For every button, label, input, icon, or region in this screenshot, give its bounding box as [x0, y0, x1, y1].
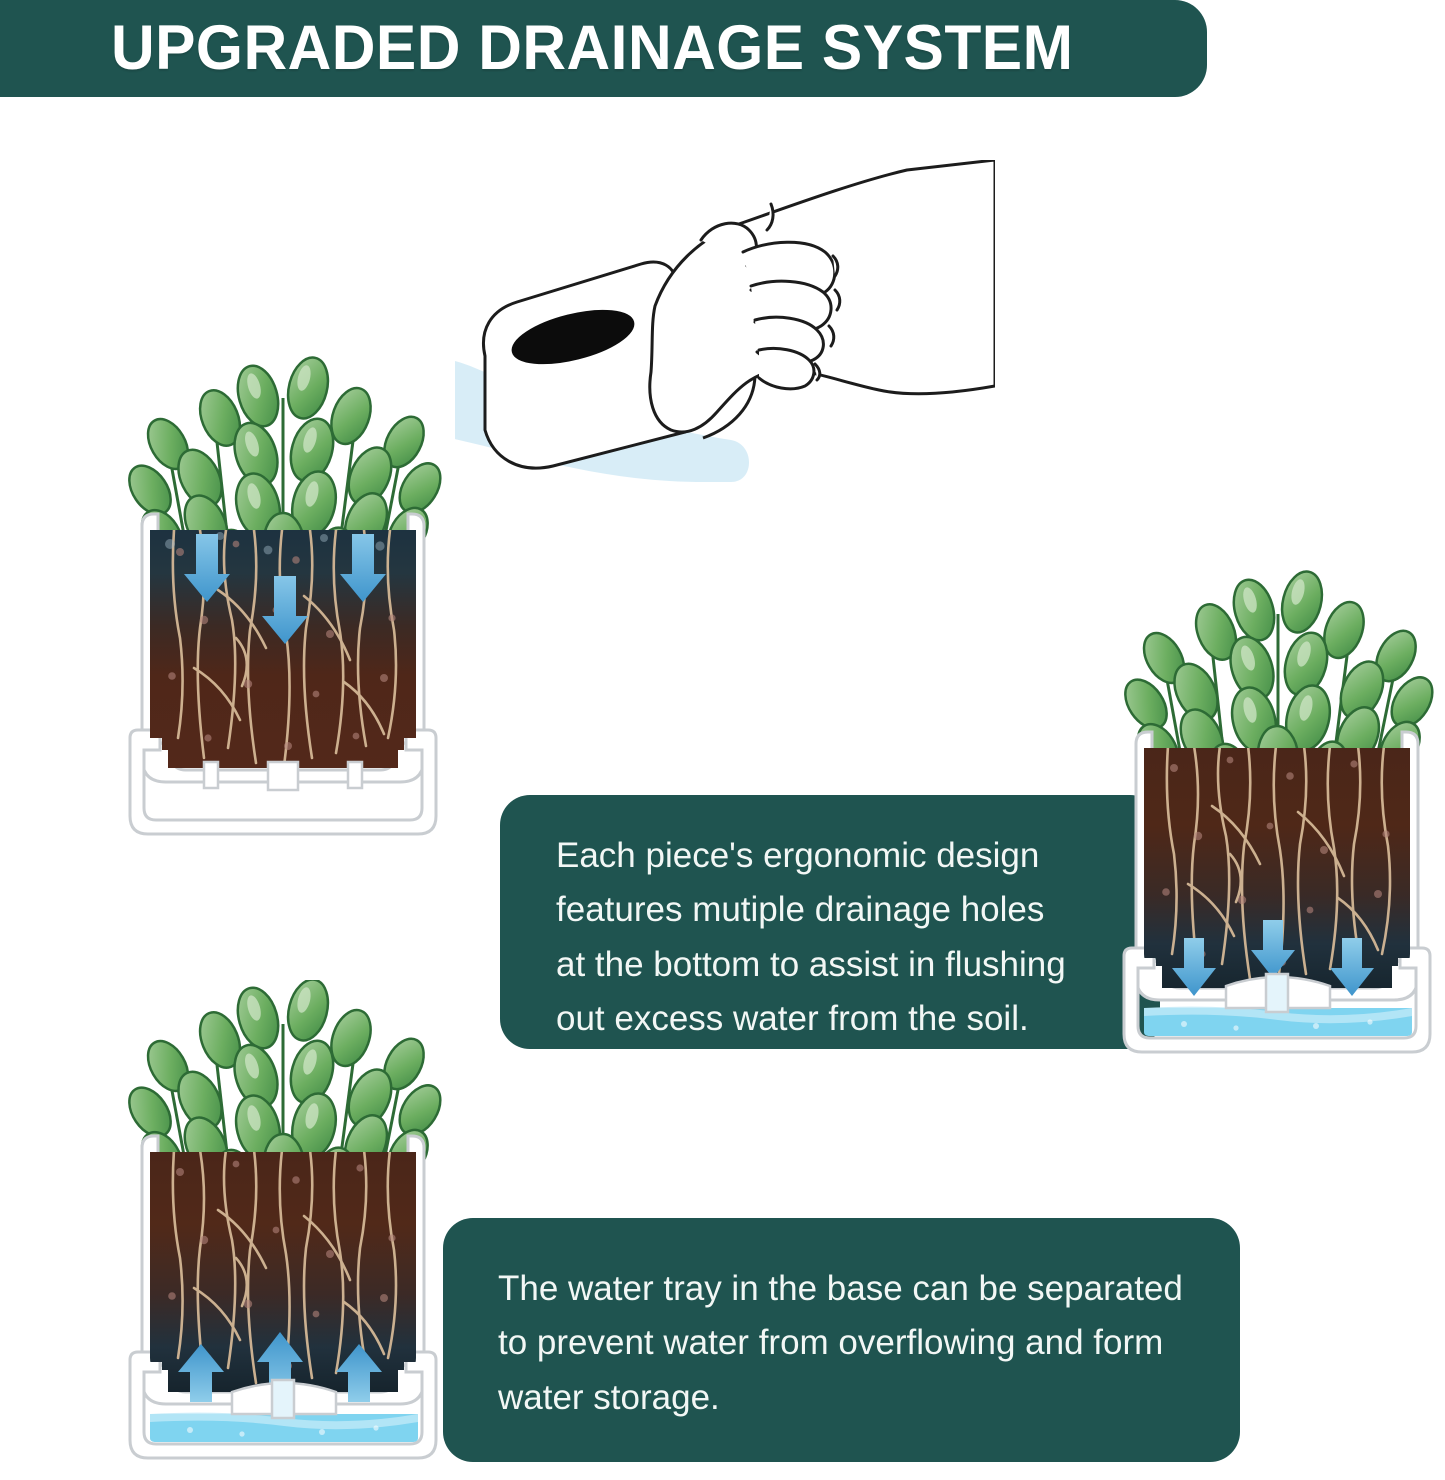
- page-title: UPGRADED DRAINAGE SYSTEM: [0, 17, 1073, 80]
- soil-cross-section: [150, 524, 416, 768]
- hand-pouring-watering-can: [455, 160, 995, 560]
- header-banner: UPGRADED DRAINAGE SYSTEM: [0, 0, 1207, 97]
- callout-water-tray: The water tray in the base can be separa…: [443, 1218, 1240, 1462]
- planter-cross-section-wicking: [108, 980, 458, 1480]
- callout-drainage-holes: Each piece's ergonomic design features m…: [500, 795, 1160, 1049]
- hand-line-art: [650, 160, 995, 432]
- infographic-stage: UPGRADED DRAINAGE SYSTEM Each piece's er…: [0, 0, 1445, 1470]
- planter-cross-section-draining: [1108, 556, 1445, 1076]
- planter-cross-section-watering: [108, 338, 458, 858]
- callout-water-tray-text: The water tray in the base can be separa…: [498, 1262, 1240, 1425]
- callout-drainage-holes-text: Each piece's ergonomic design features m…: [556, 829, 1160, 1046]
